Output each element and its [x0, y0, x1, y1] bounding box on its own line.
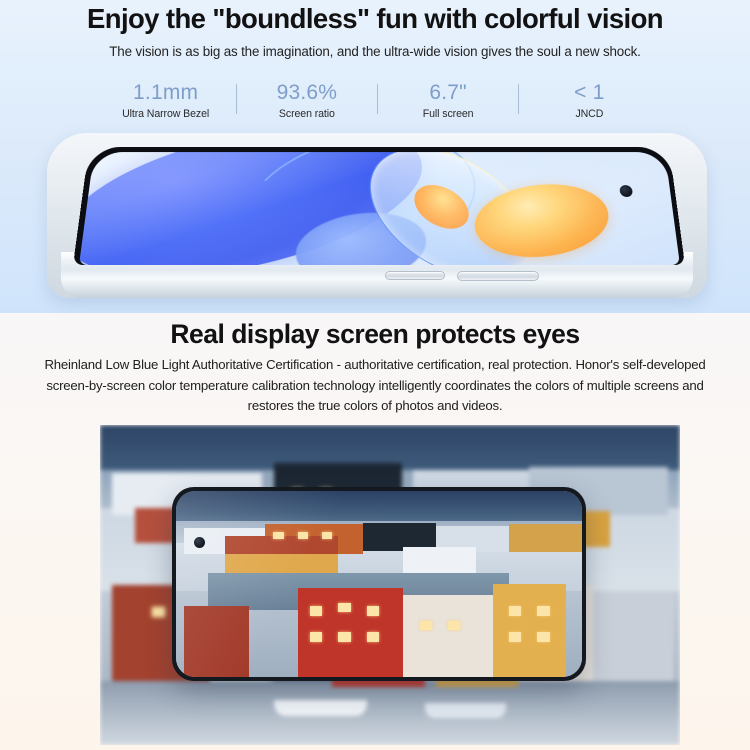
phone-screen-overlay [172, 487, 586, 681]
overlay-window [367, 606, 379, 615]
spec-label: Screen ratio [236, 107, 377, 122]
overlay-building [403, 547, 476, 573]
overlay-window [338, 603, 350, 612]
spec-value: 6.7" [378, 80, 519, 106]
section-two-heading: Real display screen protects eyes [0, 319, 750, 350]
overlay-window [298, 532, 308, 539]
spec-value: 1.1mm [95, 80, 236, 106]
product-landing-page: Enjoy the "boundless" fun with colorful … [0, 0, 750, 750]
overlay-building [184, 606, 249, 677]
photo-building [593, 591, 674, 681]
overlay-window [448, 621, 460, 630]
spec-row: 1.1mm Ultra Narrow Bezel 93.6% Screen ra… [95, 80, 660, 126]
spec-value: 93.6% [236, 80, 377, 106]
overlay-window [509, 606, 521, 615]
overlay-window [367, 632, 379, 641]
overlay-window [338, 632, 350, 641]
overlay-window [322, 532, 332, 539]
spec-item-jncd: < 1 JNCD [519, 80, 660, 122]
photo-boat [274, 700, 367, 716]
front-camera-icon [619, 185, 633, 197]
overlay-building [509, 524, 582, 552]
overlay-window [273, 532, 283, 539]
boundless-vision-section: Enjoy the "boundless" fun with colorful … [0, 0, 750, 313]
phone-wallpaper [79, 152, 680, 265]
phone-screen [73, 147, 685, 265]
photo-boat [425, 703, 506, 717]
overlay-window [310, 606, 322, 615]
overlay-window [509, 632, 521, 641]
phone-front-closeup-image [47, 133, 707, 313]
phone-overlay-screen [176, 491, 582, 677]
nordic-harbour-town-photo [100, 425, 680, 745]
eye-protection-section: Real display screen protects eyes Rheinl… [0, 313, 750, 750]
section-two-paragraph: Rheinland Low Blue Light Authoritative C… [25, 355, 725, 417]
photo-water-band [100, 681, 680, 745]
overlay-window [420, 621, 432, 630]
spec-value: < 1 [519, 80, 660, 106]
overlay-front-camera-icon [194, 537, 205, 548]
overlay-white-house [403, 595, 492, 677]
spec-item-screen-ratio: 93.6% Screen ratio [236, 80, 377, 122]
overlay-yellow-house [493, 584, 566, 677]
spec-label: Ultra Narrow Bezel [95, 107, 236, 122]
spec-label: Full screen [378, 107, 519, 122]
volume-rocker-button [385, 271, 445, 280]
photo-window [152, 607, 165, 617]
overlay-window [537, 632, 549, 641]
overlay-window [537, 606, 549, 615]
overlay-window [310, 632, 322, 641]
power-button [457, 271, 539, 281]
spec-item-full-screen: 6.7" Full screen [378, 80, 519, 122]
section-one-heading: Enjoy the "boundless" fun with colorful … [0, 3, 750, 35]
spec-label: JNCD [519, 107, 660, 122]
section-one-subtitle: The vision is as big as the imagination,… [0, 44, 750, 59]
spec-item-ultra-narrow-bezel: 1.1mm Ultra Narrow Bezel [95, 80, 236, 122]
